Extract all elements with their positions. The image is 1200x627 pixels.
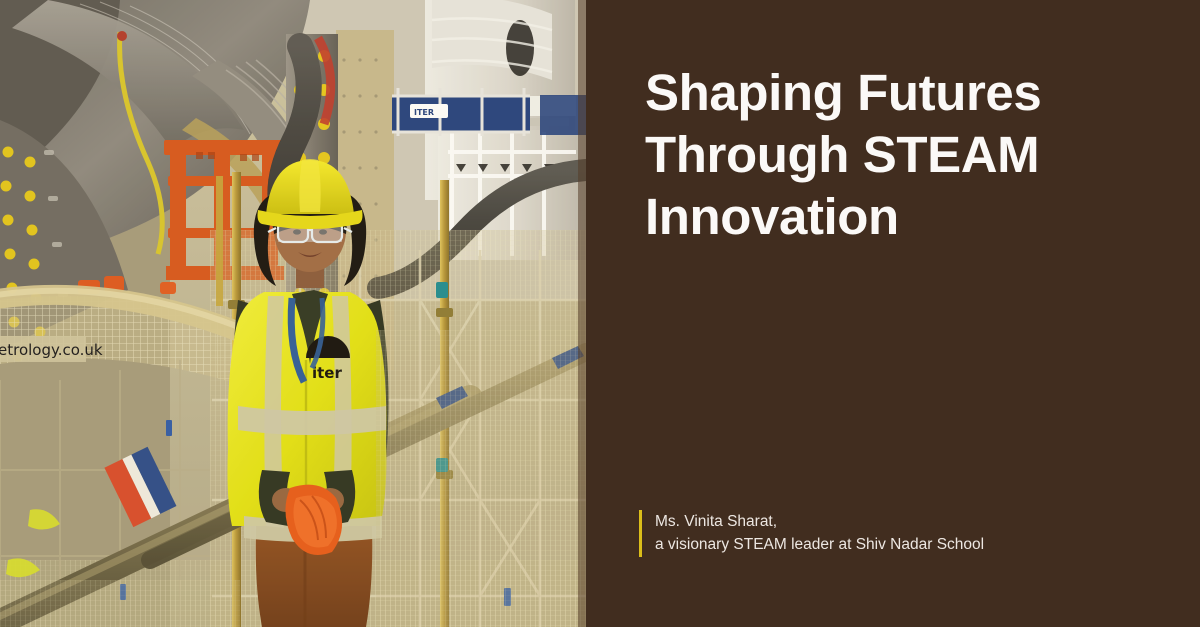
caption-line-1: Ms. Vinita Sharat,: [655, 510, 984, 533]
caption-accent-bar: [639, 510, 642, 557]
banner: ITER: [0, 0, 1200, 627]
caption-line-2: a visionary STEAM leader at Shiv Nadar S…: [655, 533, 984, 556]
facility-photo-illustration: ITER: [0, 0, 586, 627]
headline-line-2: Through STEAM: [645, 124, 1175, 186]
caption: Ms. Vinita Sharat, a visionary STEAM lea…: [639, 510, 984, 557]
headline-line-3: Innovation: [645, 186, 1175, 248]
headline-line-1: Shaping Futures: [645, 62, 1175, 124]
page-title: Shaping Futures Through STEAM Innovation: [645, 62, 1175, 248]
caption-text: Ms. Vinita Sharat, a visionary STEAM lea…: [655, 510, 984, 557]
text-panel: Shaping Futures Through STEAM Innovation…: [586, 0, 1200, 627]
facility-photo: ITER: [0, 0, 586, 627]
